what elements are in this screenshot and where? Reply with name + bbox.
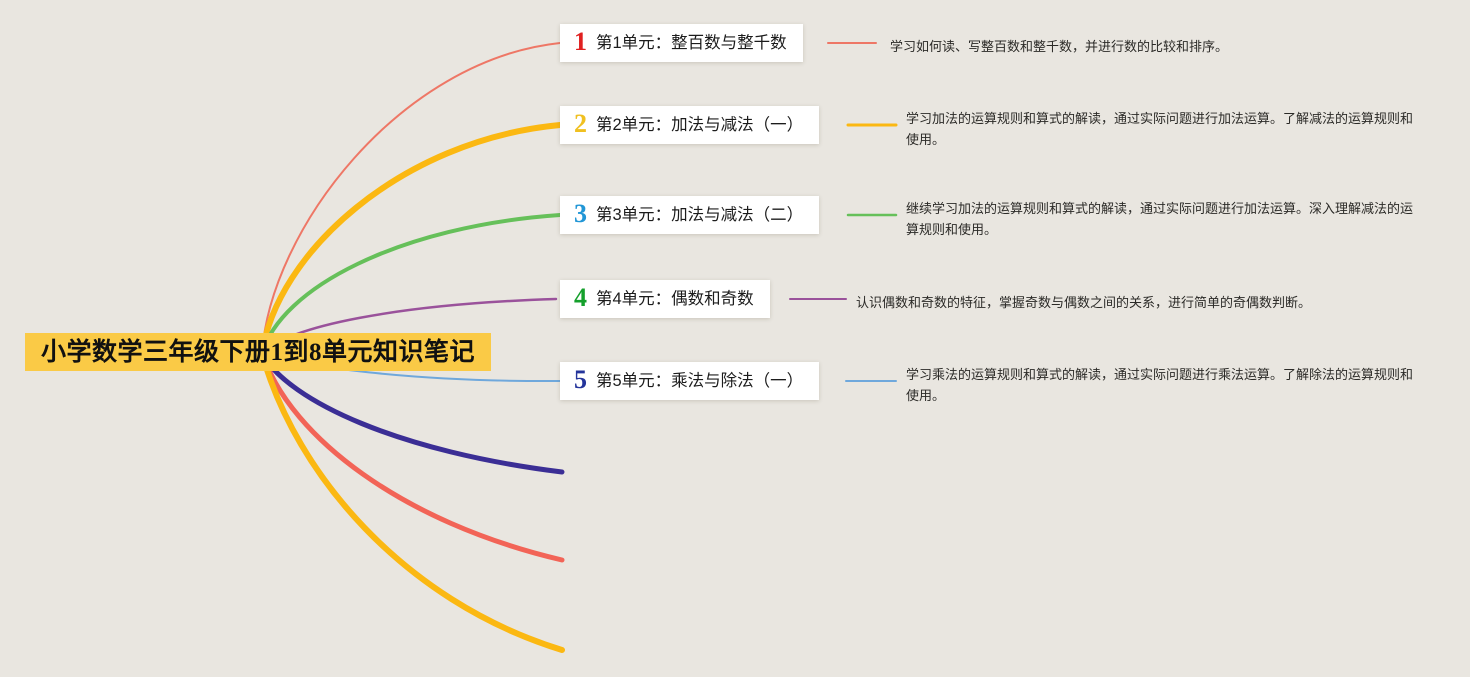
topic-label-2: 第2单元：加法与减法（一）	[596, 117, 803, 134]
topic-description-5: 学习乘法的运算规则和算式的解读，通过实际问题进行乘法运算。了解除法的运算规则和使…	[906, 364, 1418, 406]
topic-description-2: 学习加法的运算规则和算式的解读，通过实际问题进行加法运算。了解减法的运算规则和使…	[906, 108, 1418, 150]
topic-number-3: 3	[574, 201, 587, 227]
topic-description-1: 学习如何读、写整百数和整千数，并进行数的比较和排序。	[890, 36, 1470, 57]
branch-curve-2	[262, 125, 560, 354]
branch-curve-1	[262, 43, 560, 354]
topic-number-4: 4	[574, 285, 587, 311]
topic-number-5: 5	[574, 367, 587, 393]
topic-description-3: 继续学习加法的运算规则和算式的解读，通过实际问题进行加法运算。深入理解减法的运算…	[906, 198, 1418, 240]
topic-number-2: 2	[574, 111, 587, 137]
mindmap-canvas: 小学数学三年级下册1到8单元知识笔记 1 第1单元：整百数与整千数 学习如何读、…	[0, 0, 1470, 677]
central-topic-title: 小学数学三年级下册1到8单元知识笔记	[41, 340, 475, 365]
central-topic-node[interactable]: 小学数学三年级下册1到8单元知识笔记	[25, 333, 491, 371]
topic-label-5: 第5单元：乘法与除法（一）	[596, 373, 803, 390]
topic-label-4: 第4单元：偶数和奇数	[596, 291, 754, 308]
topic-label-3: 第3单元：加法与减法（二）	[596, 207, 803, 224]
branch-curve-6	[262, 354, 562, 472]
topic-node-3[interactable]: 3 第3单元：加法与减法（二）	[560, 196, 819, 234]
topic-node-5[interactable]: 5 第5单元：乘法与除法（一）	[560, 362, 819, 400]
topic-node-2[interactable]: 2 第2单元：加法与减法（一）	[560, 106, 819, 144]
topic-node-4[interactable]: 4 第4单元：偶数和奇数	[560, 280, 770, 318]
topic-label-1: 第1单元：整百数与整千数	[596, 35, 787, 52]
branch-curve-8	[264, 360, 562, 650]
topic-node-1[interactable]: 1 第1单元：整百数与整千数	[560, 24, 803, 62]
topic-number-1: 1	[574, 29, 587, 55]
topic-description-4: 认识偶数和奇数的特征，掌握奇数与偶数之间的关系，进行简单的奇偶数判断。	[856, 292, 1470, 313]
branch-curve-7	[264, 358, 562, 560]
